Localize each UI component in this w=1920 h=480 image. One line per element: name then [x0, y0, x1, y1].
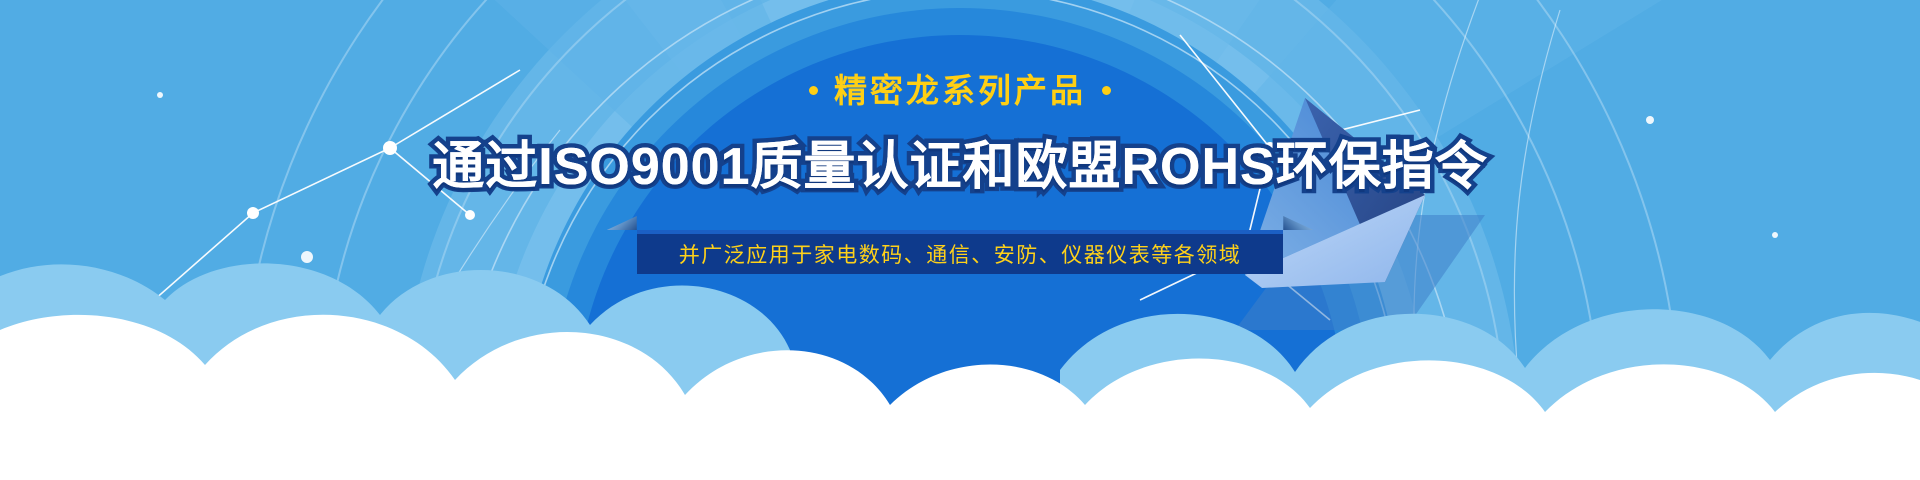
promo-banner: 精密龙系列产品 通过ISO9001质量认证和欧盟ROHS环保指令 通过ISO90…: [0, 0, 1920, 480]
background-graphics: [0, 0, 1920, 480]
